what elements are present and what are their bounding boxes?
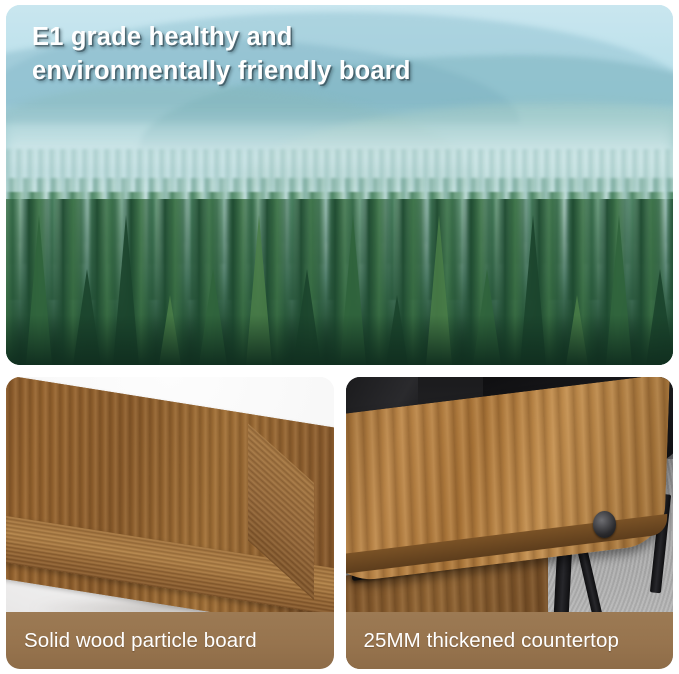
feature-panels: Solid wood particle board 25MM thickened… [6,377,673,669]
height-adjust-knob [593,511,616,537]
forest-floor-shadow [6,315,673,365]
hero-heading: E1 grade healthy and environmentally fri… [32,21,592,88]
caption-bar-particle-board: Solid wood particle board [6,612,334,669]
panel-countertop: 25MM thickened countertop [346,377,674,669]
product-feature-board: E1 grade healthy and environmentally fri… [0,0,679,674]
caption-bar-countertop: 25MM thickened countertop [346,612,674,669]
hero-forest-banner: E1 grade healthy and environmentally fri… [6,5,673,365]
caption-label: Solid wood particle board [24,629,257,653]
panel-particle-board: Solid wood particle board [6,377,334,669]
caption-label: 25MM thickened countertop [364,629,619,653]
